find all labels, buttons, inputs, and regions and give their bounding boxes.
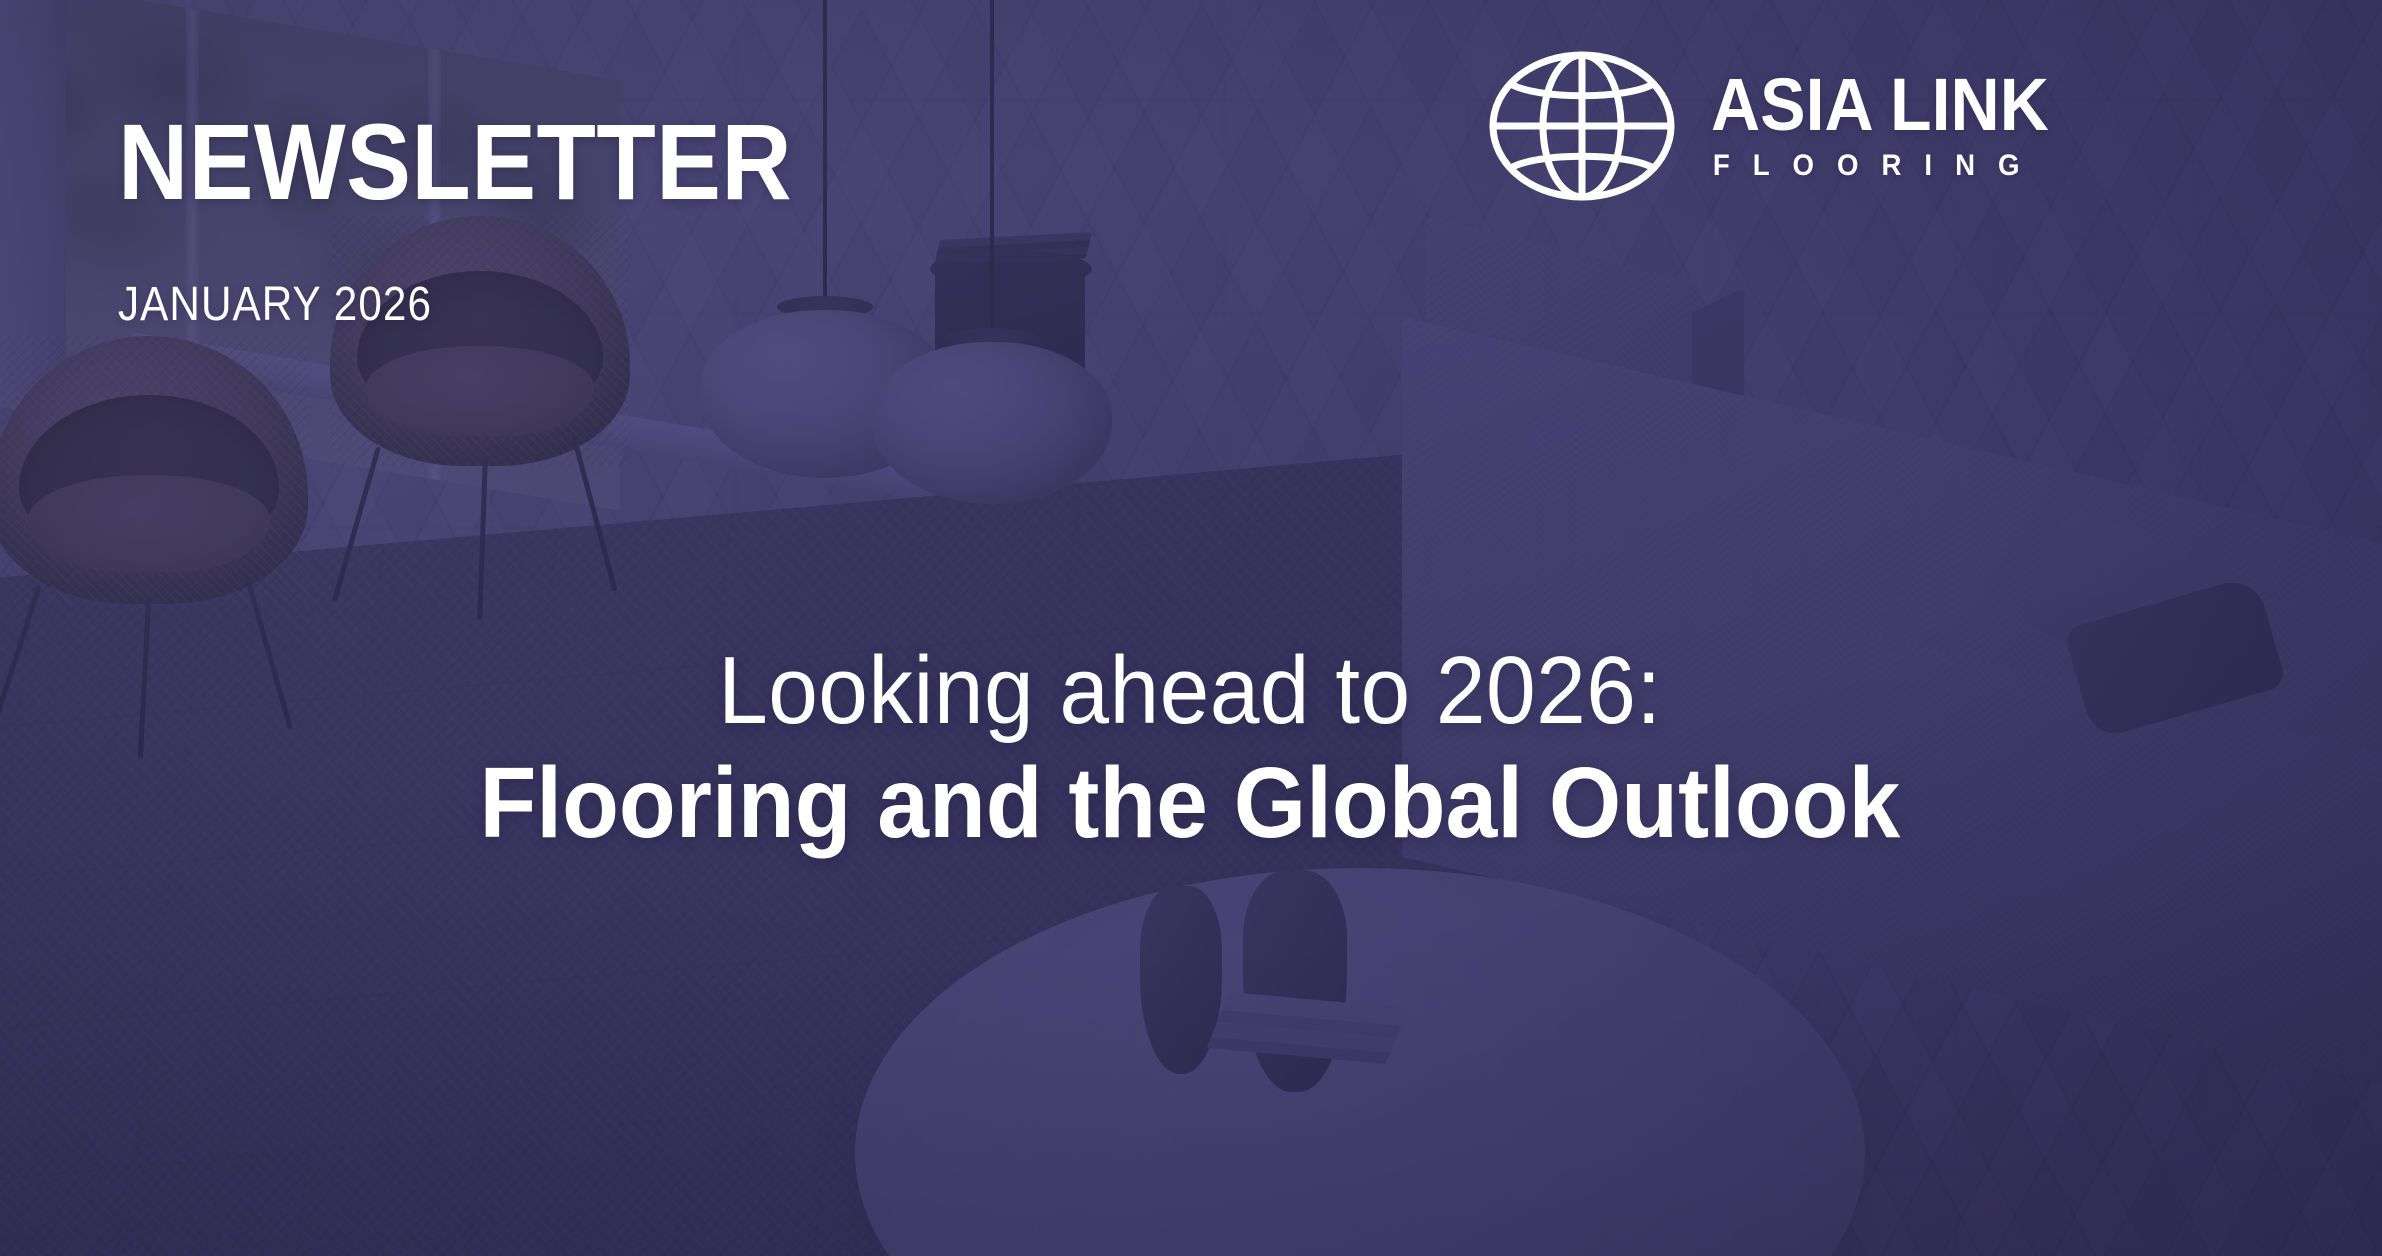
logo-wordmark: ASIA LINK FLOORING (1711, 69, 2078, 182)
brand-subtitle: FLOORING (1711, 149, 2049, 183)
newsletter-kicker: NEWSLETTER (118, 112, 792, 211)
headline-line-2: Flooring and the Global Outlook (480, 750, 1901, 856)
brand-name: ASIA LINK (1711, 69, 2049, 140)
banner-content: NEWSLETTER JANUARY 2026 ASIA LINK FLOORI… (0, 0, 2382, 1256)
masthead-block: NEWSLETTER JANUARY 2026 (118, 112, 867, 332)
globe-icon (1487, 50, 1677, 202)
headline-block: Looking ahead to 2026: Flooring and the … (0, 640, 2382, 856)
headline-inner: Looking ahead to 2026: Flooring and the … (426, 640, 1954, 856)
headline-line-1: Looking ahead to 2026: (480, 640, 1901, 742)
asia-link-flooring-logo[interactable]: ASIA LINK FLOORING (1487, 50, 2078, 202)
newsletter-banner: NEWSLETTER JANUARY 2026 ASIA LINK FLOORI… (0, 0, 2382, 1256)
issue-date: JANUARY 2026 (118, 277, 777, 332)
